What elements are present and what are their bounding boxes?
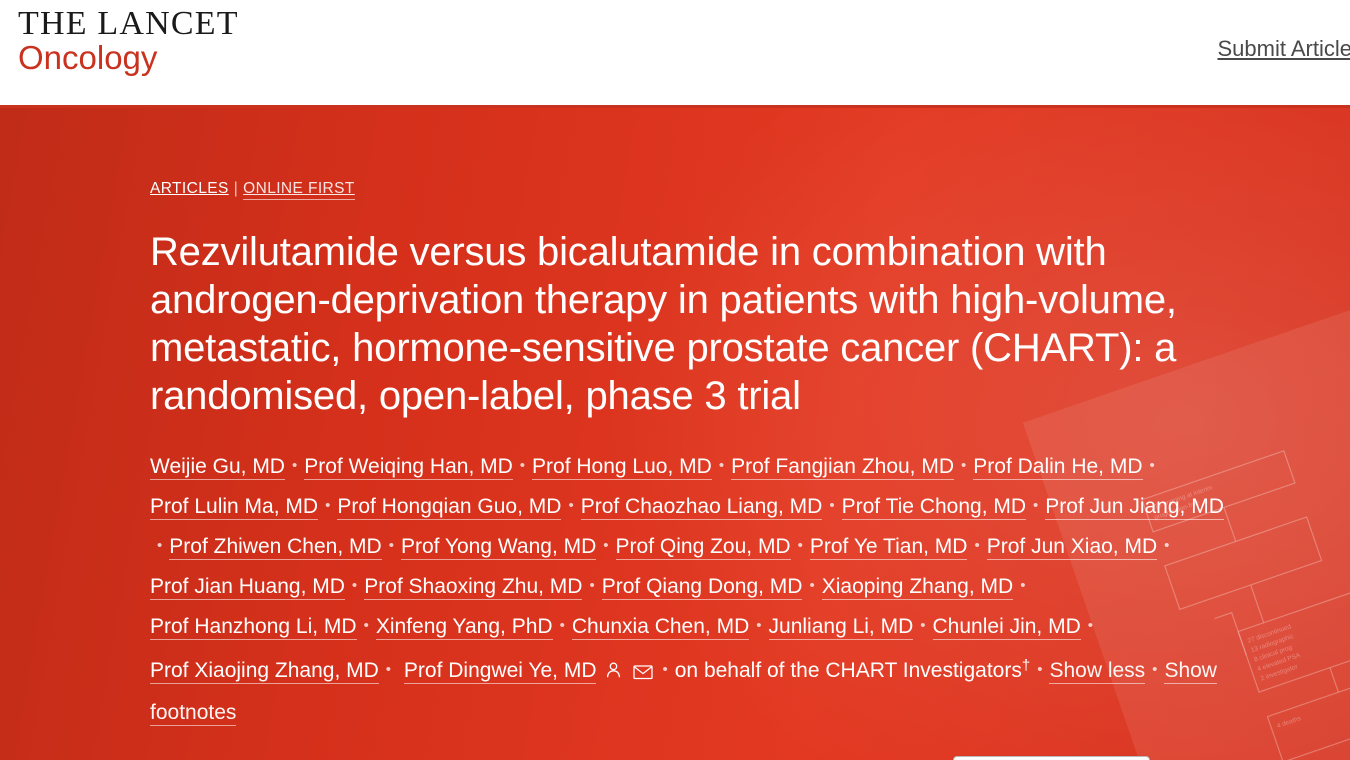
author-link[interactable]: Xinfeng Yang, PhD <box>376 615 553 640</box>
article-hero-banner: 218 ongoing at interim progression-free … <box>0 108 1350 760</box>
group-attribution: on behalf of the CHART Investigators <box>675 659 1022 682</box>
author-separator-bullet: • <box>791 526 810 565</box>
author-separator-bullet: • <box>802 566 821 605</box>
author-link[interactable]: Chunxia Chen, MD <box>572 615 749 640</box>
kicker-online-first-link[interactable]: ONLINE FIRST <box>243 180 355 200</box>
author-link[interactable]: Prof Dalin He, MD <box>973 455 1142 480</box>
author-separator-bullet: • <box>318 486 337 525</box>
author-link-corresponding[interactable]: Prof Dingwei Ye, MD <box>404 659 597 684</box>
author-link[interactable]: Prof Weiqing Han, MD <box>304 455 513 480</box>
author-separator-bullet: • <box>1026 486 1045 525</box>
submit-article-link[interactable]: Submit Article <box>1218 36 1350 62</box>
author-link[interactable]: Prof Fangjian Zhou, MD <box>731 455 954 480</box>
logo-line-the-lancet: THE LANCET <box>18 6 239 42</box>
author-separator-bullet: • <box>582 566 601 605</box>
author-separator-bullet: • <box>596 526 615 565</box>
author-separator-bullet: • <box>967 526 986 565</box>
author-link[interactable]: Prof Jun Xiao, MD <box>987 535 1157 560</box>
author-separator-bullet: • <box>285 446 304 485</box>
crossmark-check-for-updates-button[interactable]: Check for updates <box>953 756 1150 760</box>
author-link[interactable]: Prof Hong Luo, MD <box>532 455 712 480</box>
author-link[interactable]: Junliang Li, MD <box>769 615 914 640</box>
site-logo[interactable]: THE LANCET Oncology <box>18 6 239 76</box>
author-link[interactable]: Prof Qing Zou, MD <box>616 535 791 560</box>
author-link[interactable]: Prof Jun Jiang, MD <box>1045 495 1224 520</box>
author-separator-bullet: • <box>513 446 532 485</box>
author-separator-bullet: • <box>379 650 398 689</box>
author-separator-bullet: • <box>382 526 401 565</box>
author-separator-bullet: • <box>1143 446 1162 485</box>
author-separator-bullet: • <box>1157 526 1176 565</box>
author-separator-bullet: • <box>1030 650 1049 689</box>
author-separator-bullet: • <box>561 486 580 525</box>
author-link[interactable]: Prof Xiaojing Zhang, MD <box>150 659 379 684</box>
publication-meta: Published: September 05, 2022 • DOI: htt… <box>150 756 1350 760</box>
author-link[interactable]: Prof Ye Tian, MD <box>810 535 968 560</box>
author-separator-bullet: • <box>655 650 674 689</box>
author-link[interactable]: Prof Qiang Dong, MD <box>602 575 803 600</box>
author-link[interactable]: Chunlei Jin, MD <box>933 615 1081 640</box>
author-link[interactable]: Prof Tie Chong, MD <box>842 495 1026 520</box>
author-separator-bullet: • <box>1013 566 1032 605</box>
author-list: Weijie Gu, MD•Prof Weiqing Han, MD•Prof … <box>150 446 1230 732</box>
author-link[interactable]: Prof Hongqian Guo, MD <box>337 495 561 520</box>
author-separator-bullet: • <box>712 446 731 485</box>
show-less-link[interactable]: Show less <box>1049 659 1145 684</box>
author-link[interactable]: Prof Yong Wang, MD <box>401 535 596 560</box>
envelope-icon[interactable] <box>633 654 653 693</box>
author-separator-bullet: • <box>954 446 973 485</box>
author-link[interactable]: Prof Hanzhong Li, MD <box>150 615 357 640</box>
author-separator-bullet: • <box>345 566 364 605</box>
footnote-marker[interactable]: † <box>1022 657 1030 674</box>
site-masthead: THE LANCET Oncology Submit Article <box>0 0 1350 108</box>
person-icon[interactable] <box>604 654 623 693</box>
author-link[interactable]: Prof Jian Huang, MD <box>150 575 345 600</box>
author-separator-bullet: • <box>822 486 841 525</box>
author-separator-bullet: • <box>150 526 169 565</box>
logo-line-oncology: Oncology <box>18 40 239 76</box>
author-link[interactable]: Xiaoping Zhang, MD <box>822 575 1013 600</box>
author-link[interactable]: Weijie Gu, MD <box>150 455 285 480</box>
author-link[interactable]: Prof Chaozhao Liang, MD <box>581 495 823 520</box>
article-title: Rezvilutamide versus bicalutamide in com… <box>150 228 1255 420</box>
author-separator-bullet: • <box>749 606 768 645</box>
author-separator-bullet: • <box>1145 650 1164 689</box>
author-separator-bullet: • <box>357 606 376 645</box>
author-link[interactable]: Prof Lulin Ma, MD <box>150 495 318 520</box>
author-separator-bullet: • <box>913 606 932 645</box>
article-kicker: ARTICLES|ONLINE FIRST <box>150 180 1350 198</box>
kicker-separator: | <box>229 180 243 197</box>
author-link[interactable]: Prof Shaoxing Zhu, MD <box>364 575 582 600</box>
author-separator-bullet: • <box>553 606 572 645</box>
kicker-section-link[interactable]: ARTICLES <box>150 180 229 197</box>
author-link[interactable]: Prof Zhiwen Chen, MD <box>169 535 381 560</box>
author-separator-bullet: • <box>1081 606 1100 645</box>
